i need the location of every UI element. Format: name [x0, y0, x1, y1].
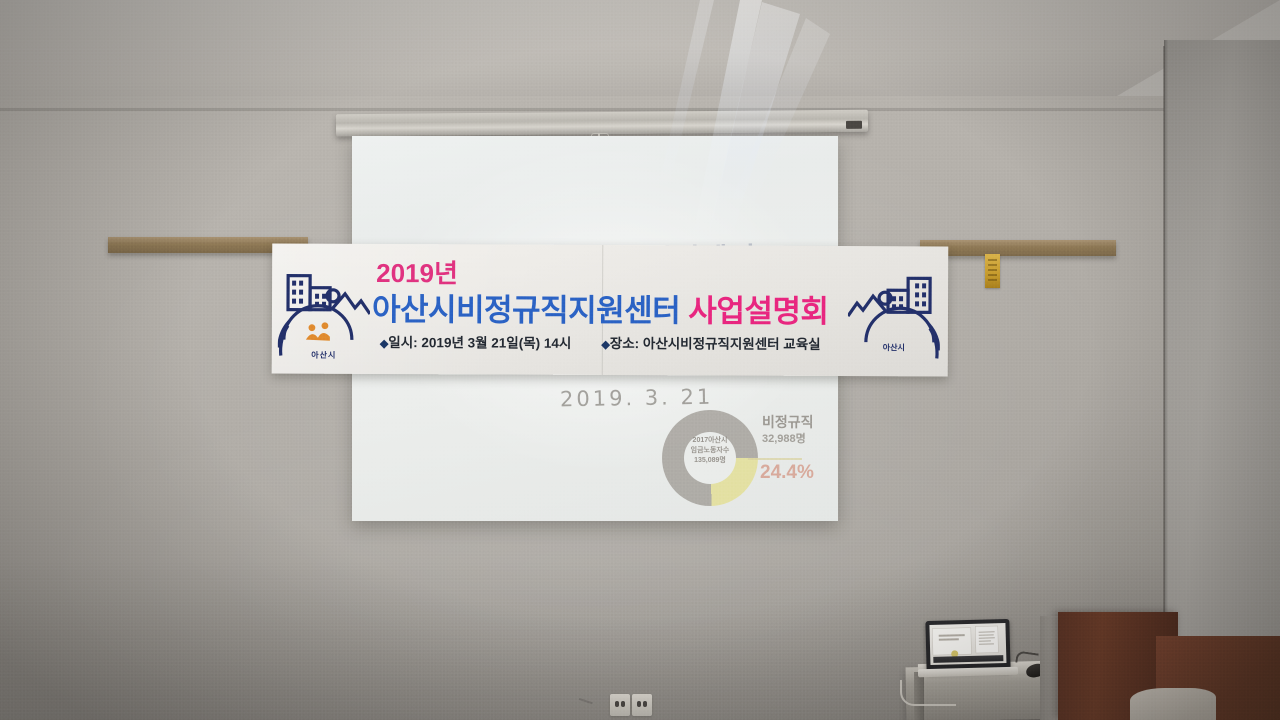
- laptop-taskbar[interactable]: [933, 655, 1003, 663]
- banner-title-org: 아산시비정규직지원센터: [372, 292, 680, 328]
- laptop-notes-pane: [975, 626, 998, 653]
- room-photo: 아산시비정규직지원센터 비정규직지원센터 2019. 3. 21 2017아산시…: [0, 0, 1280, 720]
- svg-text:아산시: 아산시: [883, 342, 905, 352]
- power-cable: [900, 680, 956, 706]
- chart-label-percent: 24.4%: [760, 462, 814, 484]
- asan-city-logo-right: 아산시: [848, 268, 940, 368]
- ceiling-wall-joint: [0, 108, 1172, 111]
- donut-center-labels: 2017아산시 임금노동자수 135,089명: [670, 436, 750, 466]
- yellow-hanging-tag: [985, 254, 1000, 288]
- event-banner: 아산시: [272, 244, 949, 377]
- laptop-screen: [929, 623, 1006, 665]
- slide-donut-chart: 2017아산시 임금노동자수 135,089명 비정규직 32,988명 24.…: [652, 404, 834, 519]
- chart-label-nonregular-count: 32,988명: [762, 430, 806, 446]
- donut-center-line1: 2017아산시: [670, 436, 750, 446]
- wooden-batten-rail-right: [920, 240, 1116, 256]
- banner-title: 아산시비정규직지원센터 사업설명회: [372, 284, 829, 331]
- banner-title-event: 사업설명회: [688, 293, 828, 329]
- banner-meta: ◆일시: 2019년 3월 21일(목) 14시◆장소: 아산시비정규직지원센터…: [380, 331, 821, 353]
- laptop[interactable]: [925, 619, 1010, 673]
- wall-outlet-left[interactable]: [610, 694, 630, 716]
- chart-leader-line: [748, 458, 802, 460]
- donut-center-line3: 135,089명: [670, 456, 750, 466]
- svg-text:아산시: 아산시: [311, 350, 336, 360]
- laptop-slide-thumbnail: [933, 628, 972, 655]
- asan-city-logo-left: 아산시: [278, 266, 370, 366]
- wall-outlet-right[interactable]: [632, 694, 652, 716]
- white-cloth: [1130, 688, 1216, 720]
- banner-date-value: 2019년 3월 21일(목) 14시: [421, 335, 571, 351]
- chart-label-nonregular: 비정규직: [762, 412, 814, 432]
- banner-place-value: 아산시비정규직지원센터 교육실: [643, 336, 821, 352]
- banner-place-label: 장소:: [610, 336, 639, 351]
- door-frame: [1040, 616, 1060, 720]
- donut-center-line2: 임금노동자수: [670, 446, 750, 456]
- diamond-bullet-place-icon: ◆: [601, 339, 610, 351]
- banner-date-label: 일시:: [388, 335, 417, 350]
- right-wall: [1164, 40, 1280, 720]
